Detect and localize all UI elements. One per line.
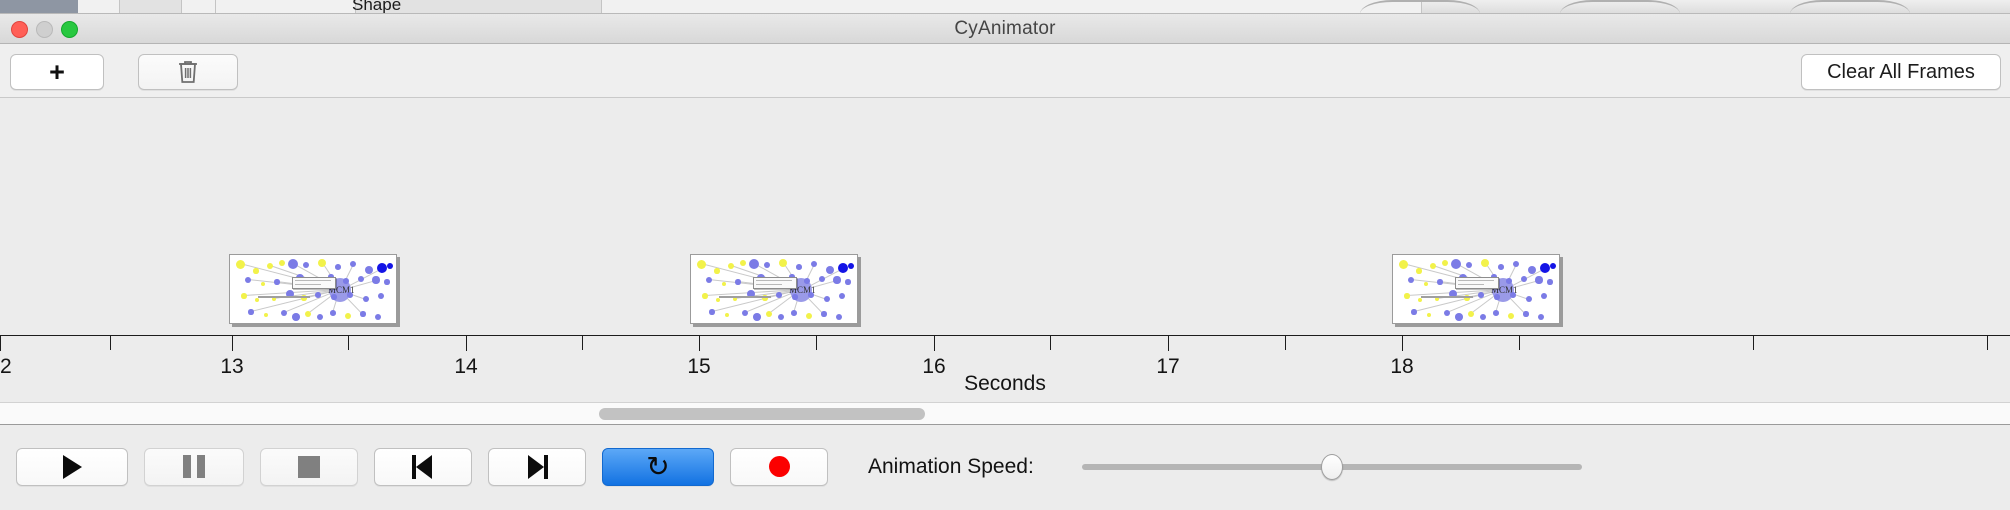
loop-button[interactable]: ↻ bbox=[602, 448, 714, 486]
network-thumbnail: MCM1 bbox=[230, 255, 396, 323]
network-node bbox=[1418, 298, 1423, 303]
timeline-panel[interactable]: MCM1 MCM1 MCM1 12131415161718 Seconds bbox=[0, 98, 2010, 403]
background-column bbox=[182, 0, 216, 14]
cyanimator-window: CyAnimator + Clear All Frames bbox=[0, 14, 2010, 510]
network-node bbox=[821, 311, 826, 316]
network-node bbox=[806, 313, 812, 319]
network-node bbox=[714, 268, 719, 273]
network-node bbox=[1404, 293, 1409, 298]
ruler-major-tick bbox=[1402, 336, 1403, 351]
timeline-frame[interactable]: MCM1 bbox=[1392, 254, 1560, 324]
skip-to-start-button[interactable] bbox=[374, 448, 472, 486]
skip-forward-icon bbox=[526, 455, 548, 479]
network-node bbox=[1411, 309, 1416, 314]
background-column bbox=[78, 0, 120, 14]
window-title: CyAnimator bbox=[0, 18, 2010, 40]
play-icon bbox=[63, 455, 82, 479]
network-node bbox=[706, 277, 712, 283]
network-node bbox=[728, 263, 734, 269]
network-node bbox=[315, 292, 321, 298]
network-node bbox=[1550, 263, 1557, 270]
trash-icon bbox=[177, 59, 199, 85]
network-node bbox=[1498, 264, 1504, 270]
network-node bbox=[749, 259, 759, 269]
network-node bbox=[804, 278, 810, 284]
network-node bbox=[279, 260, 286, 267]
network-node bbox=[836, 314, 842, 320]
network-node bbox=[702, 293, 707, 298]
network-node bbox=[248, 309, 253, 314]
network-node bbox=[288, 259, 298, 269]
title-bar: CyAnimator bbox=[0, 14, 2010, 44]
network-node bbox=[1478, 292, 1484, 298]
network-node bbox=[766, 311, 772, 317]
network-node bbox=[735, 279, 740, 284]
pause-icon bbox=[183, 455, 205, 478]
network-node bbox=[365, 266, 373, 274]
background-selected-block bbox=[0, 0, 78, 14]
network-node bbox=[709, 309, 714, 314]
network-node bbox=[375, 314, 381, 320]
network-thumbnail: MCM1 bbox=[1393, 255, 1559, 323]
network-tooltip-line bbox=[756, 284, 782, 285]
ruler-major-tick bbox=[699, 336, 700, 351]
ruler-minor-tick bbox=[110, 336, 111, 350]
network-node bbox=[845, 279, 850, 284]
stop-icon bbox=[298, 456, 320, 478]
window-controls bbox=[11, 14, 78, 44]
network-node bbox=[377, 263, 387, 273]
network-tooltip-line bbox=[295, 280, 331, 281]
background-graph-curve bbox=[1560, 0, 1680, 14]
network-node bbox=[838, 263, 848, 273]
network-node bbox=[330, 310, 336, 316]
network-node bbox=[819, 276, 825, 282]
skip-to-end-button[interactable] bbox=[488, 448, 586, 486]
network-node bbox=[1526, 296, 1532, 302]
network-node bbox=[1493, 310, 1499, 316]
network-node bbox=[1521, 276, 1527, 282]
network-node bbox=[384, 279, 389, 284]
ruler-minor-tick bbox=[1519, 336, 1520, 350]
network-node bbox=[764, 262, 770, 268]
axis-title: Seconds bbox=[0, 372, 2010, 396]
network-node bbox=[363, 296, 369, 302]
clear-all-frames-label: Clear All Frames bbox=[1827, 61, 1975, 84]
animation-speed-slider[interactable] bbox=[1082, 452, 1582, 482]
network-node bbox=[360, 311, 365, 316]
network-tooltip-line bbox=[1458, 284, 1484, 285]
network-node bbox=[839, 293, 845, 299]
network-node bbox=[1540, 263, 1550, 273]
record-button[interactable] bbox=[730, 448, 828, 486]
close-button[interactable] bbox=[11, 21, 28, 38]
skip-back-icon bbox=[412, 455, 434, 479]
maximize-button[interactable] bbox=[61, 21, 78, 38]
network-node bbox=[796, 264, 802, 270]
network-node bbox=[261, 282, 266, 287]
network-node bbox=[753, 313, 761, 321]
ruler-minor-tick bbox=[1987, 336, 1988, 350]
network-node bbox=[792, 294, 797, 299]
network-node bbox=[331, 294, 336, 299]
network-node bbox=[740, 260, 747, 267]
network-node bbox=[343, 278, 349, 284]
network-node bbox=[722, 282, 727, 287]
network-node bbox=[255, 298, 260, 303]
ruler-minor-tick bbox=[816, 336, 817, 350]
network-node bbox=[778, 314, 784, 320]
network-thumbnail: MCM1 bbox=[691, 255, 857, 323]
plus-icon: + bbox=[49, 59, 65, 86]
ruler-major-tick bbox=[934, 336, 935, 351]
network-node bbox=[1424, 282, 1429, 287]
network-node bbox=[1399, 260, 1408, 269]
network-caption-line bbox=[1421, 296, 1473, 298]
network-node bbox=[1494, 294, 1499, 299]
network-node bbox=[378, 293, 384, 299]
network-node bbox=[347, 292, 353, 298]
network-node bbox=[1437, 279, 1442, 284]
network-node bbox=[1528, 266, 1536, 274]
ruler-major-tick bbox=[0, 336, 1, 351]
network-node bbox=[1416, 268, 1421, 273]
network-node bbox=[1547, 279, 1552, 284]
ruler-minor-tick bbox=[348, 336, 349, 350]
network-node bbox=[335, 264, 341, 270]
network-tooltip bbox=[753, 277, 797, 289]
network-node bbox=[305, 311, 311, 317]
network-node bbox=[1506, 278, 1512, 284]
network-node bbox=[1455, 313, 1463, 321]
network-node bbox=[697, 260, 706, 269]
ruler-major-tick bbox=[232, 336, 233, 351]
network-node bbox=[1444, 310, 1451, 317]
background-window-strip: Shape bbox=[0, 0, 2010, 14]
background-graph-curve bbox=[1360, 0, 1480, 14]
network-node bbox=[833, 276, 840, 283]
network-node bbox=[358, 276, 364, 282]
ruler-major-tick bbox=[466, 336, 467, 351]
network-node bbox=[808, 292, 814, 298]
scrollbar-thumb[interactable] bbox=[599, 408, 925, 420]
network-node bbox=[1535, 276, 1542, 283]
network-node bbox=[303, 262, 309, 268]
play-button[interactable] bbox=[16, 448, 128, 486]
network-node bbox=[1468, 311, 1474, 317]
screen-root: Shape CyAnimator + bbox=[0, 0, 2010, 510]
delete-frame-button[interactable] bbox=[138, 54, 238, 90]
network-node bbox=[776, 292, 782, 298]
network-node bbox=[811, 261, 818, 268]
toolbar: + Clear All Frames bbox=[0, 44, 2010, 98]
network-node bbox=[791, 310, 797, 316]
playback-bar: ↻ Animation Speed: bbox=[0, 425, 2010, 508]
timeline-frame[interactable]: MCM1 bbox=[229, 254, 397, 324]
network-node bbox=[716, 298, 721, 303]
loop-icon: ↻ bbox=[646, 453, 669, 481]
network-node bbox=[281, 310, 288, 317]
network-node bbox=[824, 296, 830, 302]
timeline-frame[interactable]: MCM1 bbox=[690, 254, 858, 324]
network-node bbox=[264, 313, 269, 318]
network-node bbox=[1510, 292, 1516, 298]
animation-speed-label: Animation Speed: bbox=[868, 455, 1034, 479]
network-node bbox=[245, 277, 251, 283]
network-node bbox=[848, 263, 855, 270]
background-column bbox=[602, 0, 1422, 14]
pause-button[interactable] bbox=[144, 448, 244, 486]
network-node bbox=[292, 313, 300, 321]
add-frame-button[interactable]: + bbox=[10, 54, 104, 90]
network-node bbox=[1427, 313, 1432, 318]
network-node bbox=[241, 293, 246, 298]
network-caption-line bbox=[258, 296, 310, 298]
horizontal-scrollbar[interactable] bbox=[0, 403, 2010, 425]
background-column bbox=[120, 0, 182, 14]
network-node bbox=[350, 261, 357, 268]
network-node bbox=[274, 279, 279, 284]
network-node bbox=[742, 310, 749, 317]
ruler-minor-tick bbox=[1050, 336, 1051, 350]
ruler-minor-tick bbox=[1285, 336, 1286, 350]
network-node bbox=[1523, 311, 1528, 316]
network-node bbox=[826, 266, 834, 274]
network-node bbox=[372, 276, 379, 283]
stop-button[interactable] bbox=[260, 448, 358, 486]
network-node bbox=[267, 263, 273, 269]
network-node bbox=[1541, 293, 1547, 299]
ruler-major-tick bbox=[1168, 336, 1169, 351]
ruler-minor-tick bbox=[1753, 336, 1754, 350]
network-node bbox=[1480, 314, 1486, 320]
network-tooltip bbox=[292, 277, 336, 289]
timeline-ruler: 12131415161718 bbox=[0, 335, 2010, 336]
background-window-label: Shape bbox=[352, 0, 401, 14]
network-node bbox=[1513, 261, 1520, 268]
clear-all-frames-button[interactable]: Clear All Frames bbox=[1801, 54, 2001, 90]
background-graph-curve bbox=[1790, 0, 1910, 14]
network-node bbox=[1430, 263, 1436, 269]
ruler-minor-tick bbox=[582, 336, 583, 350]
network-node bbox=[236, 260, 245, 269]
network-tooltip-line bbox=[295, 284, 321, 285]
network-node bbox=[317, 314, 323, 320]
network-node bbox=[1451, 259, 1461, 269]
network-node bbox=[1508, 313, 1514, 319]
network-tooltip bbox=[1455, 277, 1499, 289]
network-caption-line bbox=[719, 296, 771, 298]
network-node bbox=[387, 263, 394, 270]
network-node bbox=[1442, 260, 1449, 267]
network-node bbox=[1538, 314, 1544, 320]
background-column bbox=[216, 0, 356, 14]
network-tooltip-line bbox=[756, 280, 792, 281]
network-node bbox=[1408, 277, 1414, 283]
minimize-button[interactable] bbox=[36, 21, 53, 38]
record-icon bbox=[769, 456, 790, 477]
slider-knob[interactable] bbox=[1321, 454, 1343, 480]
network-tooltip-line bbox=[1458, 280, 1494, 281]
network-node bbox=[1466, 262, 1472, 268]
network-node bbox=[345, 313, 351, 319]
network-node bbox=[725, 313, 730, 318]
network-node bbox=[253, 268, 258, 273]
